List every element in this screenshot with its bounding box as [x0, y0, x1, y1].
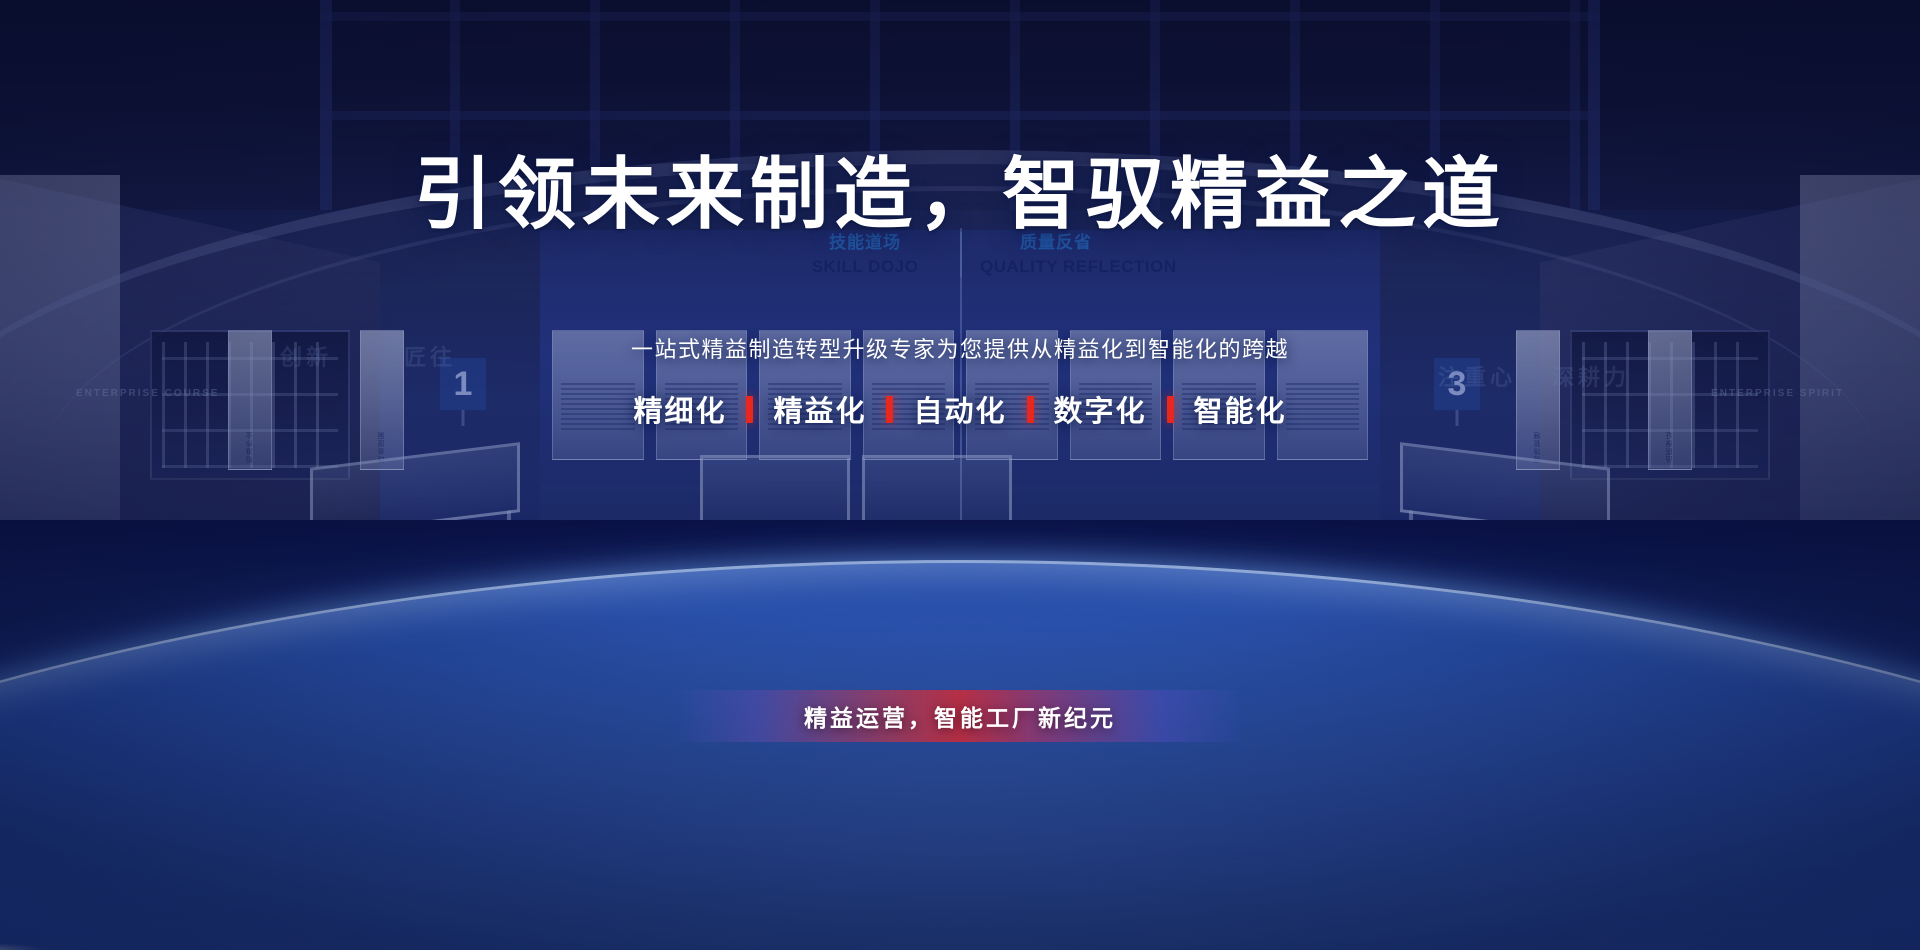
bottom-tagline-text: 精益运营，智能工厂新纪元: [804, 699, 1116, 733]
hero-content: 引领未来制造，智驭精益之道 一站式精益制造转型升级专家为您提供从精益化到智能化的…: [0, 0, 1920, 950]
feature-keyword: 数字化: [1054, 388, 1147, 430]
feature-separator-icon: [746, 396, 753, 423]
feature-keyword: 智能化: [1194, 388, 1287, 430]
hero-headline: 引领未来制造，智驭精益之道: [414, 132, 1506, 244]
feature-keyword: 自动化: [913, 388, 1006, 430]
feature-separator-icon: [886, 396, 893, 423]
bottom-tagline-banner: 精益运营，智能工厂新纪元: [680, 690, 1240, 742]
hero-subtitle: 一站式精益制造转型升级专家为您提供从精益化到智能化的跨越: [631, 332, 1289, 364]
feature-separator-icon: [1167, 396, 1174, 423]
feature-separator-icon: [1027, 396, 1034, 423]
feature-keyword-row: 精细化 精益化 自动化 数字化 智能化: [633, 388, 1286, 430]
feature-keyword: 精益化: [773, 388, 866, 430]
feature-keyword: 精细化: [633, 388, 726, 430]
hero-banner: 标准作业 改善提案 现场管理 品质保证 1: [0, 0, 1920, 950]
